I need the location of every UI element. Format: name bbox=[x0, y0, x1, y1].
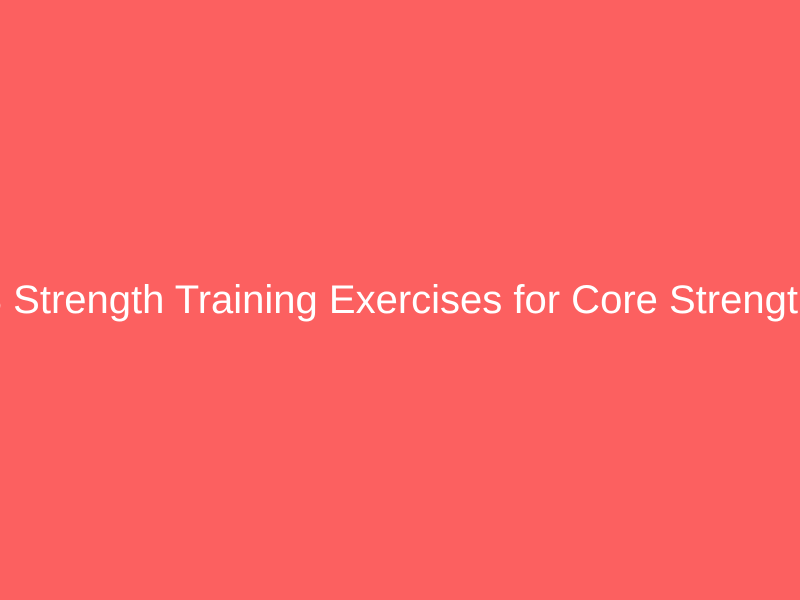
title-card: 8 Strength Training Exercises for Core S… bbox=[0, 0, 800, 600]
page-title: 8 Strength Training Exercises for Core S… bbox=[0, 276, 800, 324]
